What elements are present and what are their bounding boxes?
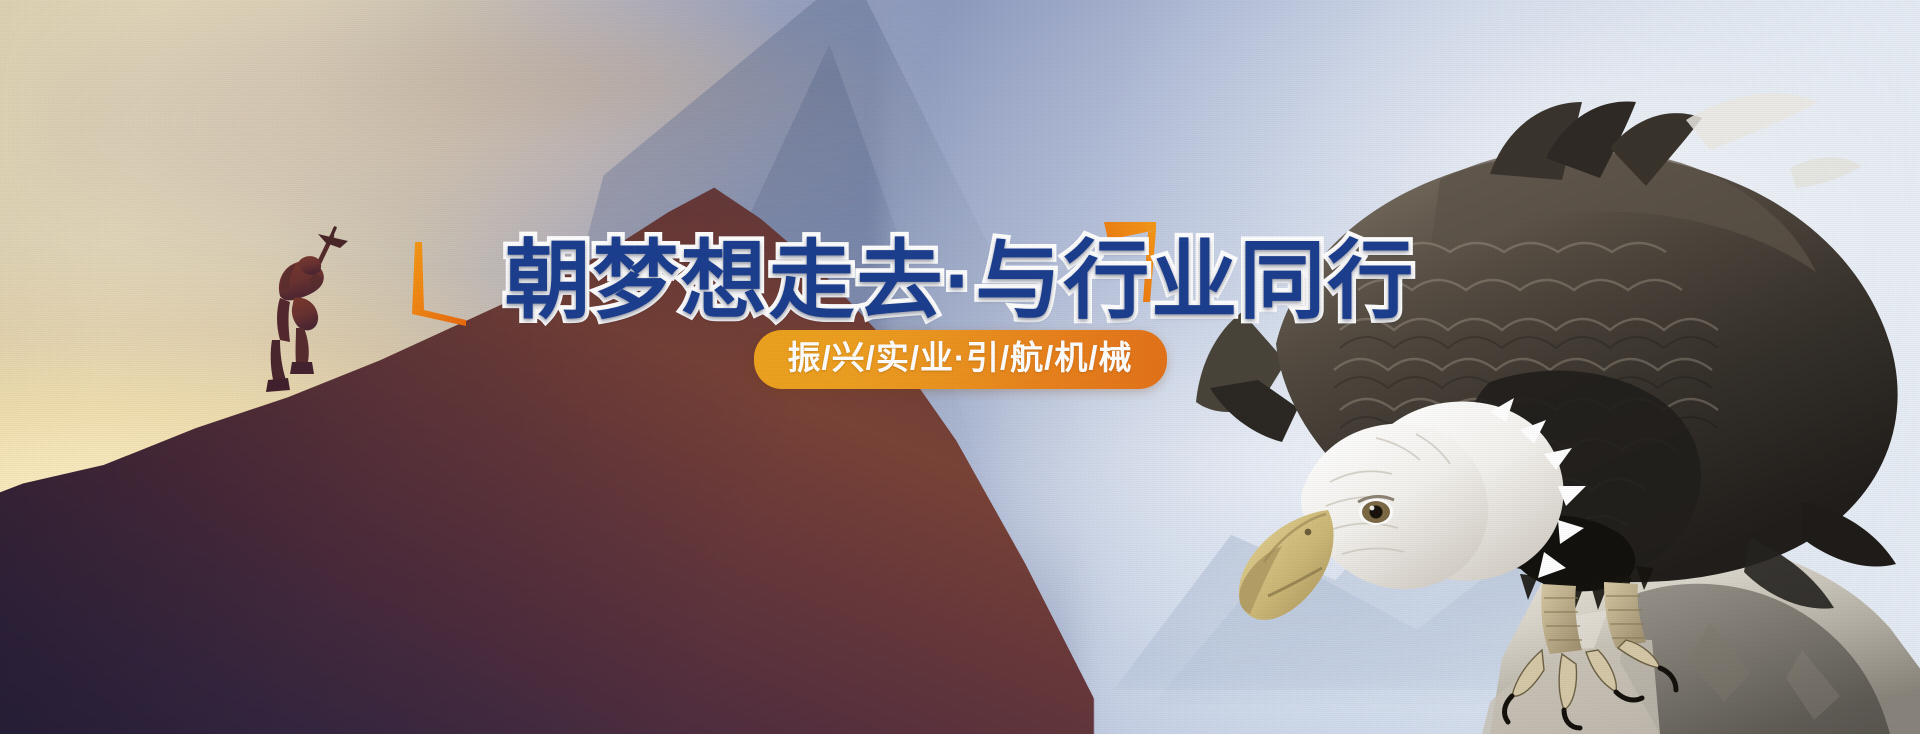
page-title: 朝梦想走去·与行业同行 bbox=[0, 238, 1920, 324]
hero-banner: 朝梦想走去·与行业同行 振/兴/实/业·引/航/机/械 bbox=[0, 0, 1920, 734]
tagline-badge: 振/兴/实/业·引/航/机/械 bbox=[754, 330, 1167, 389]
bald-eagle-illustration bbox=[1190, 62, 1920, 734]
tagline-badge-row: 振/兴/实/业·引/航/机/械 bbox=[0, 330, 1920, 389]
